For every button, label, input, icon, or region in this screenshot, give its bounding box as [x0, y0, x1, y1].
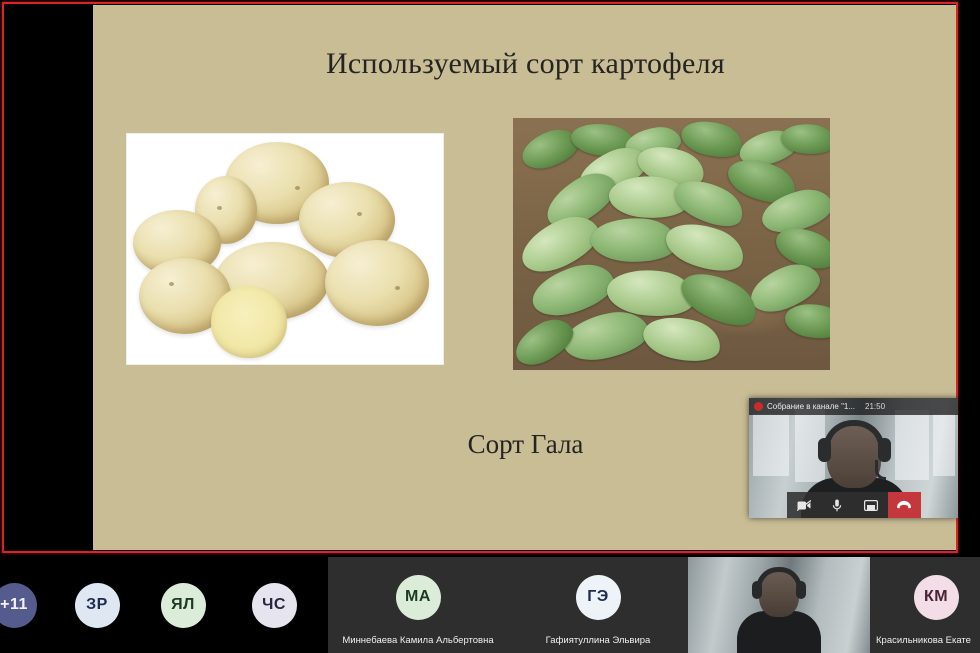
list-item[interactable]: ГЭ Гафиятуллина Эльвира — [508, 557, 688, 653]
avatar: ГЭ — [576, 575, 621, 620]
participant-name: Красильникова Екате — [870, 635, 980, 646]
participant-filmstrip[interactable]: +11 ЗР ЯЛ ЧС МА Миннебаева Камила Альбер… — [0, 557, 980, 653]
avatar: ЧС — [252, 583, 297, 628]
avatar: ЗР — [75, 583, 120, 628]
avatar: +11 — [0, 583, 37, 628]
list-item[interactable]: МА Миннебаева Камила Альбертовна — [328, 557, 508, 653]
potato-field-photo — [513, 118, 830, 370]
pip-call-controls[interactable] — [787, 492, 921, 518]
participant-video — [688, 557, 870, 653]
avatar: МА — [396, 575, 441, 620]
slide-title: Используемый сорт картофеля — [93, 47, 958, 81]
self-view-pip[interactable]: Собрание в канале "1... 21:50 — [749, 398, 958, 518]
microphone-button[interactable] — [821, 492, 855, 518]
filmstrip-gap — [320, 557, 328, 653]
list-item[interactable]: ЗР — [56, 557, 138, 653]
list-item[interactable]: КМ Красильникова Екате — [870, 557, 980, 653]
share-screen-button[interactable] — [854, 492, 888, 518]
pip-call-timer: 21:50 — [865, 402, 885, 411]
recording-dot-icon — [754, 402, 763, 411]
list-item[interactable]: +11 — [0, 557, 56, 653]
avatar: КМ — [914, 575, 959, 620]
teams-meeting-window: Используемый сорт картофеля — [0, 0, 980, 653]
potato-tubers-photo — [126, 133, 444, 365]
participant-name: Гафиятуллина Эльвира — [508, 635, 688, 646]
pip-meeting-title: Собрание в канале "1... — [767, 402, 855, 411]
list-item[interactable]: ЯЛ — [138, 557, 228, 653]
shared-content-region[interactable]: Используемый сорт картофеля — [0, 0, 980, 557]
hang-up-button[interactable] — [888, 492, 922, 518]
pip-status-bar: Собрание в канале "1... 21:50 — [749, 398, 958, 415]
list-item-video[interactable] — [688, 557, 870, 653]
list-item[interactable]: ЧС — [228, 557, 320, 653]
participant-name: Миннебаева Камила Альбертовна — [328, 635, 508, 646]
avatar: ЯЛ — [161, 583, 206, 628]
camera-off-button[interactable] — [787, 492, 821, 518]
